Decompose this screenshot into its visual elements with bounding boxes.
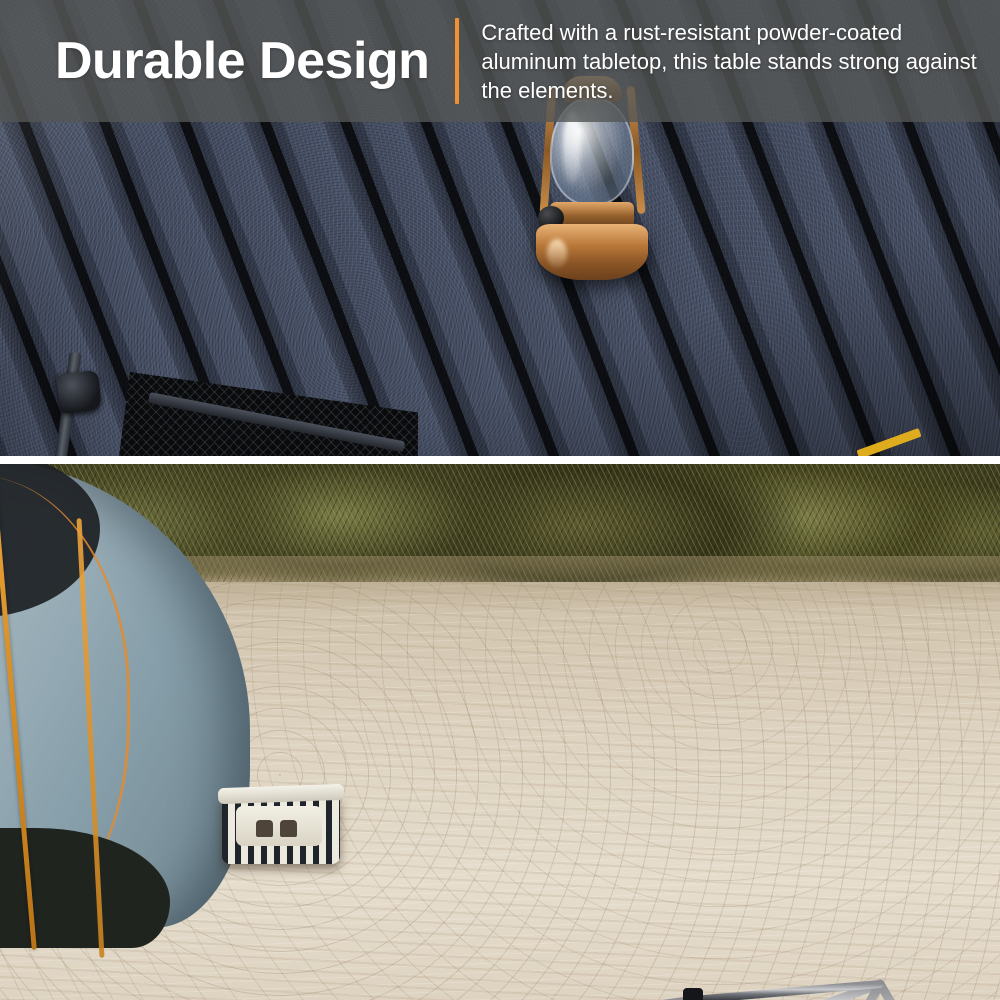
panel-divider xyxy=(0,456,1000,464)
accent-divider-rule xyxy=(455,18,459,104)
product-feature-poster: Durable Design Crafted with a rust-resis… xyxy=(0,0,1000,1000)
steel-table-frame xyxy=(0,464,1000,1000)
panel-sturdy-support: Sturdy Support Reinforced by rugged, rus… xyxy=(0,464,1000,1000)
table-joint-knuckle xyxy=(56,370,102,414)
panel-title-durable-design: Durable Design xyxy=(55,35,429,87)
panel-durable-design: Durable Design Crafted with a rust-resis… xyxy=(0,0,1000,456)
lantern-base xyxy=(536,224,648,280)
header-caption-band: Durable Design Crafted with a rust-resis… xyxy=(0,0,1000,122)
panel-body-durable-design: Crafted with a rust-resistant powder-coa… xyxy=(481,18,991,105)
